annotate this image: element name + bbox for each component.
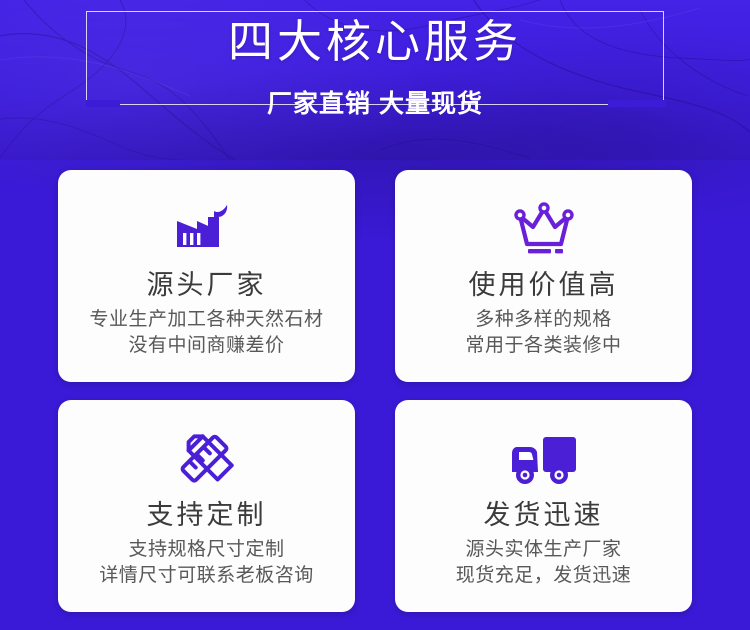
card-description-line: 常用于各类装修中 <box>465 333 621 359</box>
ruler-pencil-icon <box>174 422 240 496</box>
service-card-customization[interactable]: 支持定制 支持规格尺寸定制 详情尺寸可联系老板咨询 <box>58 400 355 612</box>
crown-icon <box>511 192 577 266</box>
card-description: 多种多样的规格 常用于各类装修中 <box>465 307 621 359</box>
card-description-line: 专业生产加工各种天然石材 <box>89 307 323 333</box>
page-subtitle: 厂家直销 大量现货 <box>0 92 750 117</box>
card-description: 源头实体生产厂家 现货充足，发货迅速 <box>456 537 632 589</box>
card-description-line: 没有中间商赚差价 <box>89 333 323 359</box>
card-description-line: 多种多样的规格 <box>465 307 621 333</box>
page-title: 四大核心服务 <box>0 19 750 64</box>
service-card-fast-shipping[interactable]: 发货迅速 源头实体生产厂家 现货充足，发货迅速 <box>395 400 692 612</box>
card-description: 专业生产加工各种天然石材 没有中间商赚差价 <box>89 307 323 359</box>
card-description-line: 详情尺寸可联系老板咨询 <box>99 563 314 589</box>
card-description: 支持规格尺寸定制 详情尺寸可联系老板咨询 <box>99 537 314 589</box>
card-description-line: 支持规格尺寸定制 <box>99 537 314 563</box>
card-title: 源头厂家 <box>147 270 267 302</box>
card-title: 发货迅速 <box>484 500 604 532</box>
factory-icon <box>175 192 239 266</box>
card-title: 使用价值高 <box>469 270 619 302</box>
card-title: 支持定制 <box>147 500 267 532</box>
service-card-source-factory[interactable]: 源头厂家 专业生产加工各种天然石材 没有中间商赚差价 <box>58 170 355 382</box>
service-card-high-value[interactable]: 使用价值高 多种多样的规格 常用于各类装修中 <box>395 170 692 382</box>
promo-poster: 四大核心服务 厂家直销 大量现货 源头厂家 <box>0 0 750 630</box>
card-description-line: 源头实体生产厂家 <box>456 537 632 563</box>
header: 四大核心服务 厂家直销 大量现货 <box>0 0 750 155</box>
service-card-grid: 源头厂家 专业生产加工各种天然石材 没有中间商赚差价 <box>58 170 692 612</box>
card-description-line: 现货充足，发货迅速 <box>456 563 632 589</box>
truck-icon <box>508 422 580 496</box>
